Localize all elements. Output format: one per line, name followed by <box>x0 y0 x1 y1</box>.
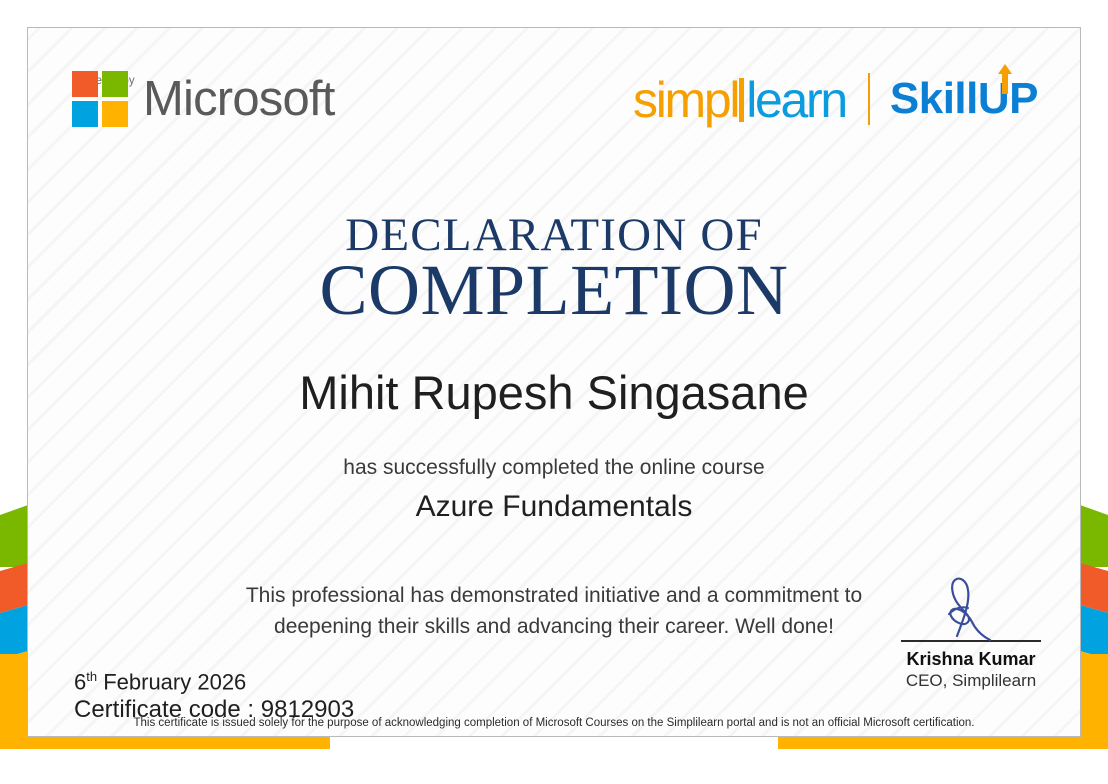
certificate-document: Powered by Microsoft simpl learn SkillUP <box>0 0 1108 784</box>
issue-date-month-year: February 2026 <box>97 669 246 694</box>
signatory-role: CEO, Simplilearn <box>896 670 1046 692</box>
issue-date-day: 6 <box>74 669 86 694</box>
handwritten-signature-icon <box>924 574 1014 642</box>
recipient-name: Mihit Rupesh Singasane <box>0 366 1108 420</box>
signatory-name: Krishna Kumar <box>896 648 1046 670</box>
signature-mark <box>896 578 1046 640</box>
issue-date: 6th February 2026 <box>74 664 246 695</box>
certificate-title-line-2: COMPLETION <box>0 254 1108 326</box>
signature-block: Krishna Kumar CEO, Simplilearn <box>896 578 1046 692</box>
disclaimer-text: This certificate is issued solely for th… <box>0 716 1108 730</box>
completion-statement: has successfully completed the online co… <box>0 455 1108 481</box>
issue-date-ordinal: th <box>86 669 97 684</box>
course-name: Azure Fundamentals <box>0 489 1108 525</box>
